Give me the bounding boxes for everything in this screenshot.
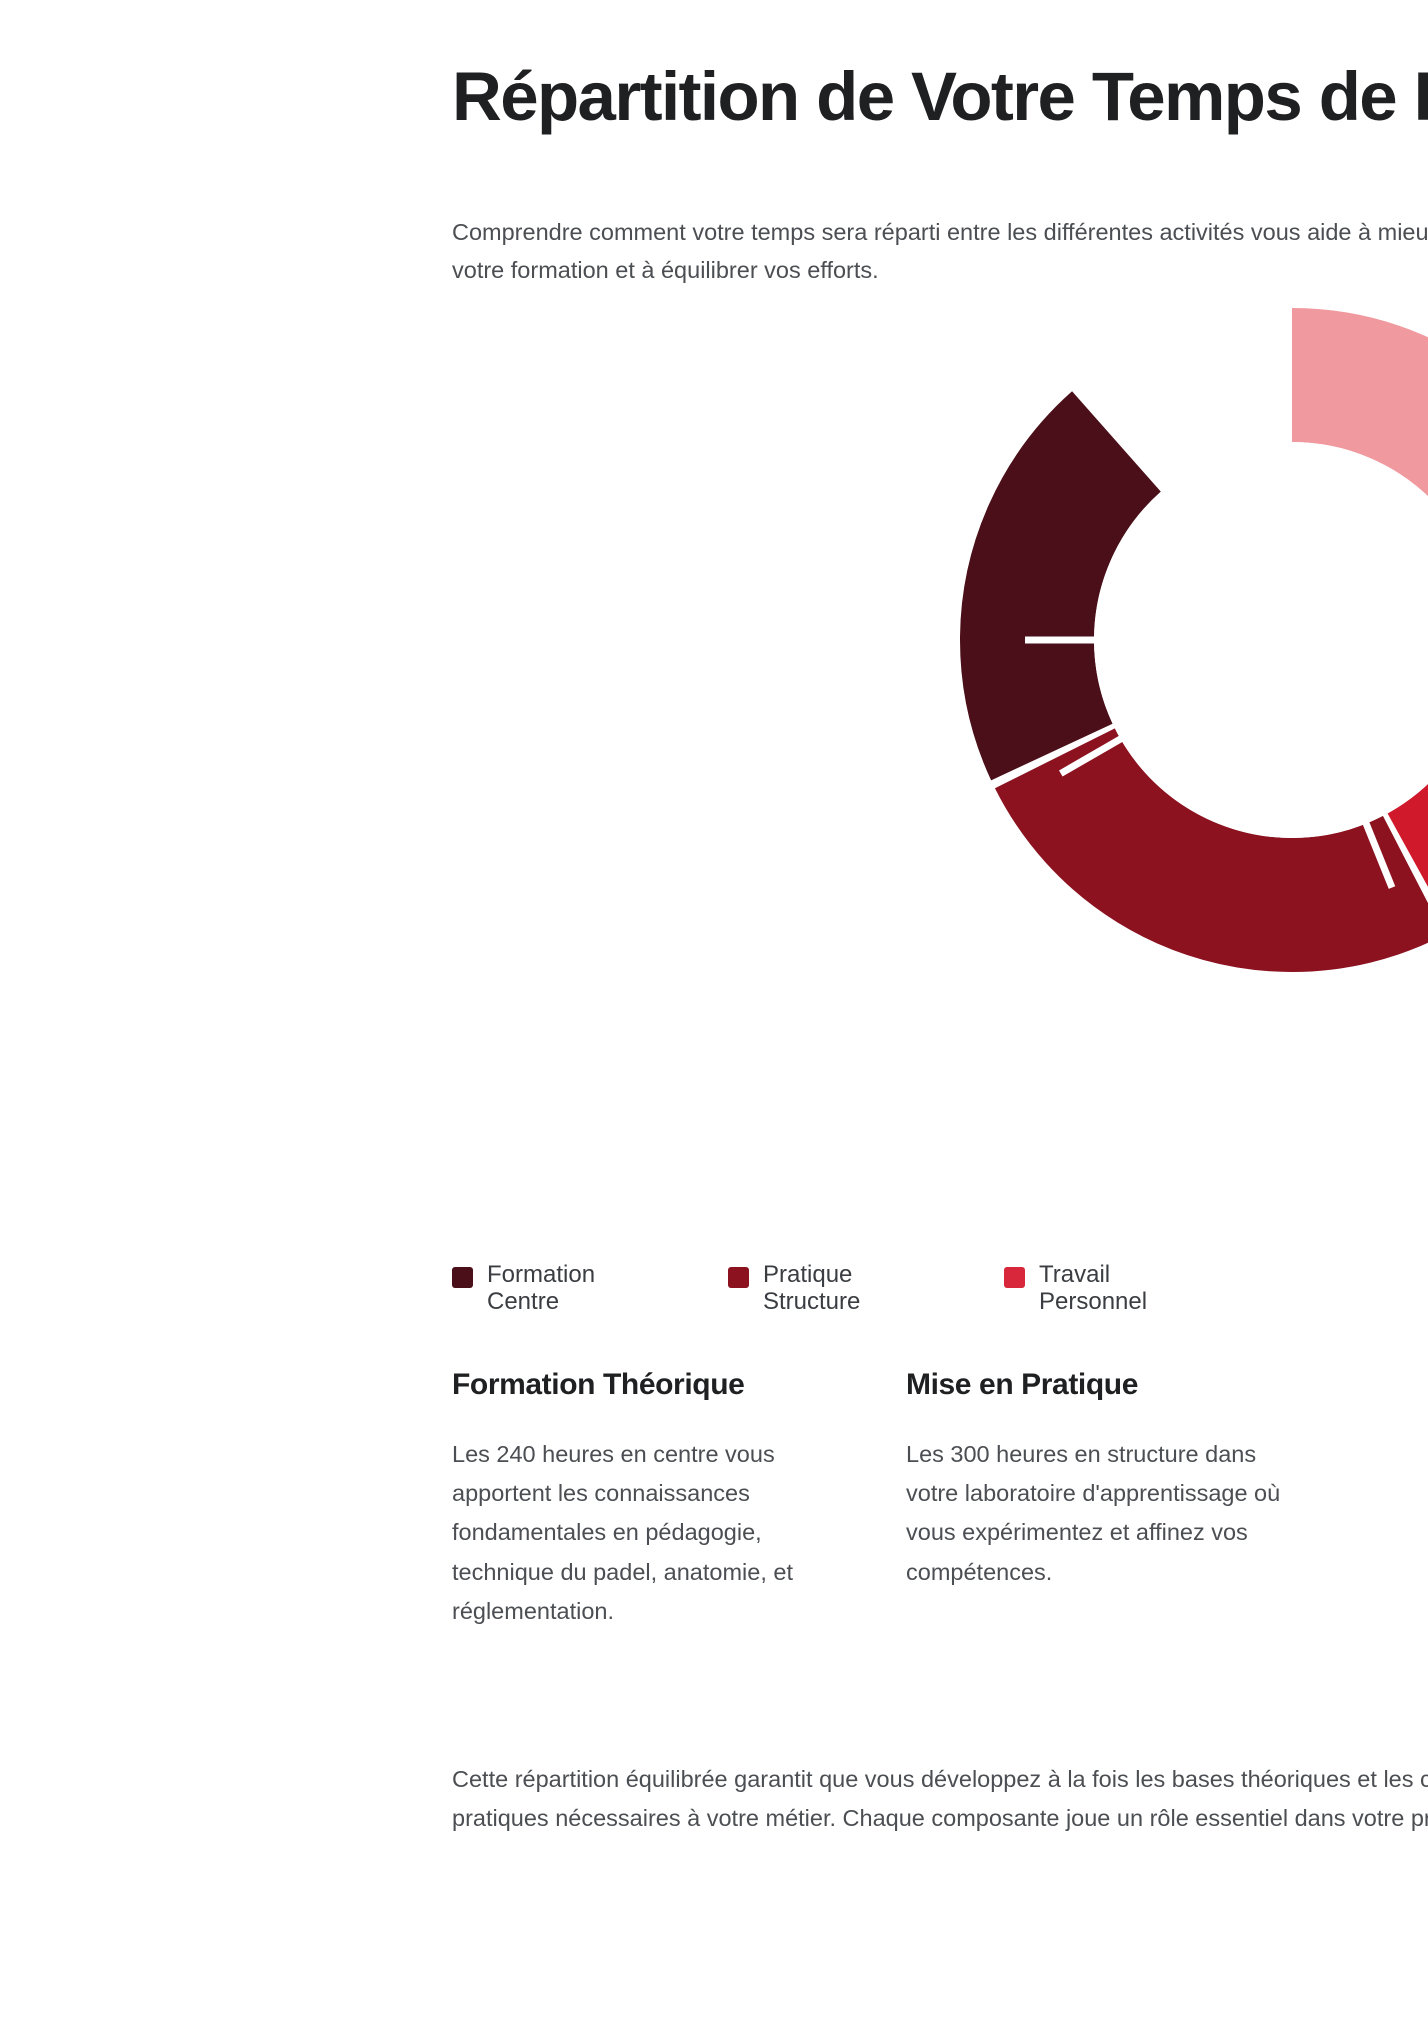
page-root: Répartition de Votre Temps de Formation … bbox=[0, 0, 1428, 2018]
column-formation-theorique: Formation Théorique Les 240 heures en ce… bbox=[452, 1368, 854, 1631]
chart-area bbox=[452, 300, 1428, 960]
column-mise-en-pratique: Mise en Pratique Les 300 heures en struc… bbox=[906, 1368, 1308, 1631]
legend-swatch-icon bbox=[1004, 1267, 1025, 1288]
detail-columns: Formation Théorique Les 240 heures en ce… bbox=[452, 1368, 1428, 1631]
page-title: Répartition de Votre Temps de Formation bbox=[452, 58, 1428, 135]
legend-item-label: Travail Personnel bbox=[1039, 1262, 1219, 1316]
legend-item-pratique-structure[interactable]: Pratique Structure bbox=[728, 1262, 1004, 1316]
page-subtitle: Comprendre comment votre temps sera répa… bbox=[452, 213, 1428, 289]
column-body: Les 300 heures en structure dans votre l… bbox=[906, 1435, 1308, 1592]
column-heading: Formation Théorique bbox=[452, 1368, 854, 1402]
legend-item-travail-personnel[interactable]: Travail Personnel bbox=[1004, 1262, 1280, 1316]
chart-legend: Formation Centre Pratique Structure Trav… bbox=[452, 1262, 1428, 1316]
legend-item-formation-centre[interactable]: Formation Centre bbox=[452, 1262, 728, 1316]
legend-swatch-icon bbox=[452, 1267, 473, 1288]
legend-item-label: Formation Centre bbox=[487, 1262, 667, 1316]
column-heading: Mise en Pratique bbox=[906, 1368, 1308, 1402]
legend-item-label: Pratique Structure bbox=[763, 1262, 943, 1316]
column-body: Les 240 heures en centre vous apportent … bbox=[452, 1435, 854, 1631]
closing-paragraph: Cette répartition équilibrée garantit qu… bbox=[452, 1760, 1428, 1838]
donut-chart bbox=[960, 308, 1428, 972]
legend-swatch-icon bbox=[728, 1267, 749, 1288]
